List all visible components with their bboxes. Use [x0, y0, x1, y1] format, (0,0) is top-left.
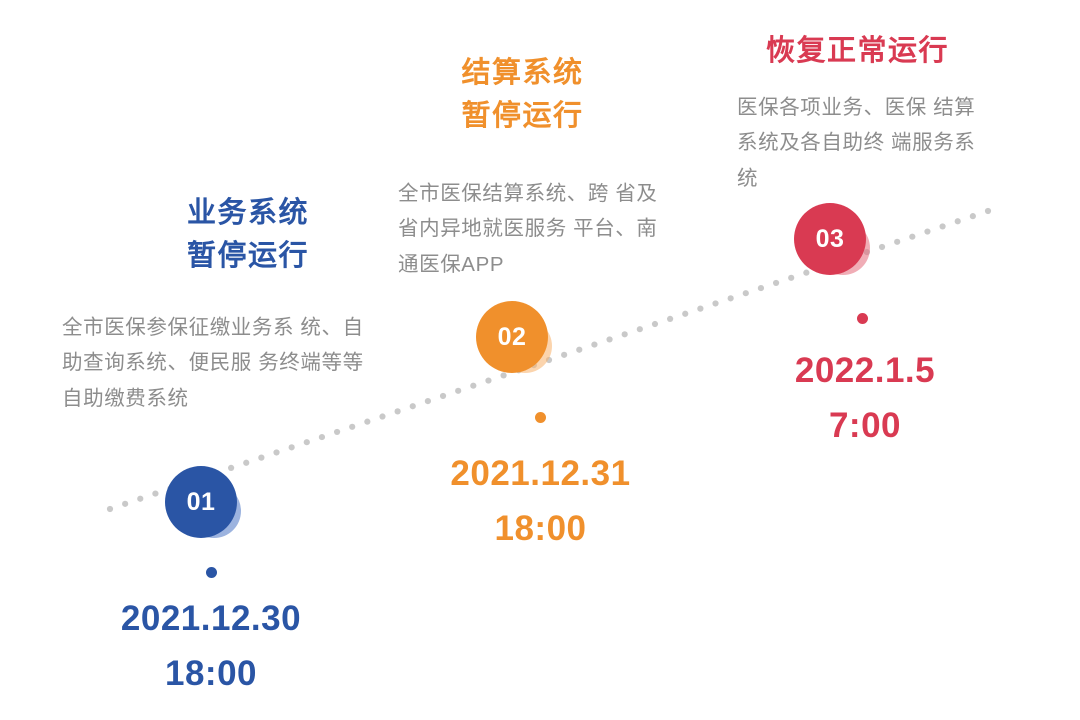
stage-02-number: 02 — [476, 301, 548, 373]
connector-dot — [939, 223, 945, 229]
connector-dot — [258, 455, 264, 461]
connector-dot — [576, 347, 582, 353]
stage-01-datestamp: 2021.12.30 18:00 — [86, 592, 336, 701]
connector-dot — [440, 393, 446, 399]
stage-01-number: 01 — [165, 466, 237, 538]
connector-dot — [319, 434, 325, 440]
stage-01-tick-dot — [206, 567, 217, 578]
stage-03-tick-dot — [857, 313, 868, 324]
connector-dot — [909, 234, 915, 240]
stage-03-marker[interactable]: 03 — [794, 203, 866, 275]
connector-dot — [122, 501, 128, 507]
connector-dot — [682, 311, 688, 317]
connector-dot — [364, 419, 370, 425]
connector-dot — [455, 388, 461, 394]
stage-02-headline: 结算系统 暂停运行 — [405, 52, 640, 138]
connector-dot — [606, 336, 612, 342]
connector-dot — [652, 321, 658, 327]
connector-dot — [289, 444, 295, 450]
connector-dot — [591, 341, 597, 347]
stage-02-datestamp: 2021.12.31 18:00 — [418, 447, 663, 556]
connector-dot — [243, 460, 249, 466]
connector-dot — [697, 306, 703, 312]
connector-dot — [985, 208, 991, 214]
connector-dot — [500, 372, 506, 378]
stage-02-marker[interactable]: 02 — [476, 301, 548, 373]
connector-dot — [273, 449, 279, 455]
stage-03-headline: 恢复正常运行 — [735, 30, 980, 73]
stage-03-number: 03 — [794, 203, 866, 275]
connector-dot — [334, 429, 340, 435]
connector-dot — [758, 285, 764, 291]
connector-dot — [137, 496, 143, 502]
connector-dot — [485, 377, 491, 383]
stage-02-tick-dot — [535, 412, 546, 423]
stage-03-datestamp: 2022.1.5 7:00 — [745, 344, 985, 453]
connector-dot — [349, 424, 355, 430]
timeline-infographic: 业务系统 暂停运行 全市医保参保征缴业务系 统、自助查询系统、便民服 务终端等等… — [0, 0, 1080, 720]
connector-dot — [637, 326, 643, 332]
stage-03-description: 医保各项业务、医保 结算系统及各自助终 端服务系统 — [737, 90, 987, 196]
connector-dot — [622, 331, 628, 337]
connector-dot — [728, 295, 734, 301]
connector-dot — [304, 439, 310, 445]
stage-01-marker[interactable]: 01 — [165, 466, 237, 538]
connector-dot — [743, 290, 749, 296]
connector-dot — [970, 213, 976, 219]
stage-02-description: 全市医保结算系统、跨 省及省内异地就医服务 平台、南通医保APP — [398, 176, 673, 282]
connector-dot — [924, 228, 930, 234]
connector-dot — [410, 403, 416, 409]
connector-dot — [152, 490, 158, 496]
connector-dot — [667, 316, 673, 322]
connector-dot — [470, 383, 476, 389]
stage-01-description: 全市医保参保征缴业务系 统、自助查询系统、便民服 务终端等等自助缴费系统 — [62, 310, 382, 416]
connector-dot — [107, 506, 113, 512]
connector-dot — [955, 218, 961, 224]
connector-dot — [395, 408, 401, 414]
connector-dot — [425, 398, 431, 404]
stage-01-headline: 业务系统 暂停运行 — [118, 192, 378, 278]
connector-dot — [879, 244, 885, 250]
connector-dot — [894, 239, 900, 245]
connector-dot — [788, 275, 794, 281]
connector-dot — [561, 352, 567, 358]
connector-dot — [712, 300, 718, 306]
connector-dot — [773, 280, 779, 286]
